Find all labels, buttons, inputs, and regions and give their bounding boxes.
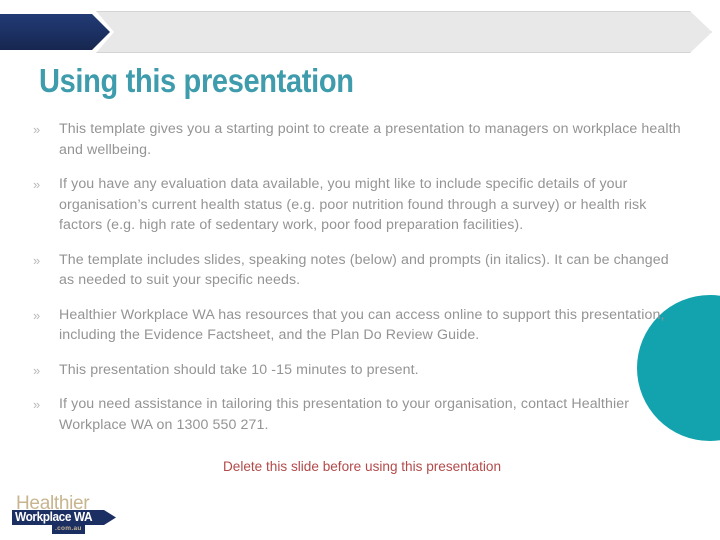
presentation-slide: Using this presentation » This template … (0, 0, 720, 540)
bullet-marker-icon: » (33, 119, 59, 139)
delete-slide-note: Delete this slide before using this pres… (0, 459, 720, 474)
bullet-marker-icon: » (33, 250, 59, 270)
list-item: » Healthier Workplace WA has resources t… (33, 305, 685, 346)
bullet-marker-icon: » (33, 394, 59, 414)
list-item: » This presentation should take 10 -15 m… (33, 360, 685, 381)
list-item-text: If you need assistance in tailoring this… (59, 394, 685, 435)
header-banner (0, 11, 720, 53)
bullet-list: » This template gives you a starting poi… (33, 119, 685, 449)
list-item-text: If you have any evaluation data availabl… (59, 174, 685, 236)
header-chevron-navy (0, 14, 110, 50)
list-item: » If you have any evaluation data availa… (33, 174, 685, 236)
list-item-text: The template includes slides, speaking n… (59, 250, 685, 291)
list-item-text: Healthier Workplace WA has resources tha… (59, 305, 685, 346)
page-title: Using this presentation (39, 62, 354, 100)
bullet-marker-icon: » (33, 360, 59, 380)
list-item: » If you need assistance in tailoring th… (33, 394, 685, 435)
list-item-text: This template gives you a starting point… (59, 119, 685, 160)
list-item: » The template includes slides, speaking… (33, 250, 685, 291)
bullet-marker-icon: » (33, 174, 59, 194)
healthier-workplace-wa-logo: Healthier Workplace WA .com.au (12, 494, 116, 534)
header-chevron-gray (96, 11, 712, 53)
logo-domain-text: .com.au (52, 524, 85, 534)
bullet-marker-icon: » (33, 305, 59, 325)
logo-line-workplace-wa: Workplace WA (15, 511, 92, 524)
list-item-text: This presentation should take 10 -15 min… (59, 360, 685, 381)
list-item: » This template gives you a starting poi… (33, 119, 685, 160)
